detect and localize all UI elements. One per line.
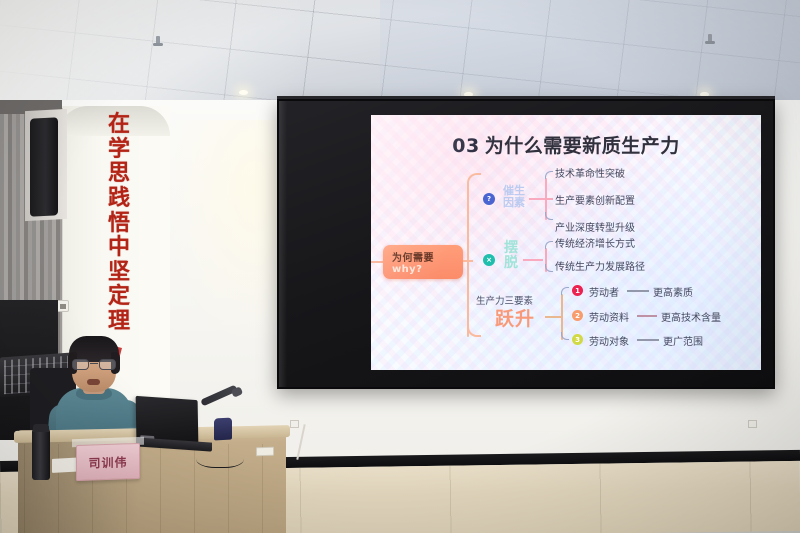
item-label: 劳动者: [589, 284, 619, 299]
calligraphy-char: 定: [108, 284, 130, 309]
item-value: 更高技术含量: [661, 309, 721, 324]
item-value: 更高素质: [653, 284, 693, 299]
placard-name-text: 司训伟: [88, 453, 127, 471]
calligraphy-char: 中: [108, 235, 130, 260]
thermos-icon: [32, 428, 50, 480]
glasses-bridge: [90, 363, 98, 364]
branch-badge-label: ?: [487, 195, 491, 203]
branch-label-1: 催生 因素: [500, 185, 528, 208]
calligraphy-char: 学: [108, 137, 130, 162]
branch-badge-cross-icon: ×: [483, 254, 495, 266]
numbered-badge-3-label: 3: [575, 336, 580, 344]
item-value: 更广范围: [663, 333, 703, 348]
item-connector: [627, 290, 649, 292]
desk-cable: [196, 446, 244, 468]
branch-3-big-label: 跃升: [495, 304, 535, 331]
leaf-node: 技术革命性突破: [555, 165, 625, 180]
display-screen-icon[interactable]: 03为什么需要新质生产力 为何需要 why? ?: [277, 99, 775, 389]
person-glasses: [71, 359, 117, 370]
wall-junction-box: [290, 420, 299, 428]
calligraphy-char: 在: [108, 112, 130, 137]
numbered-badge-1-label: 1: [575, 287, 580, 295]
slide-title-number: 03: [452, 135, 479, 157]
item-connector: [637, 315, 657, 317]
leaf-node: 生产要素创新配置: [555, 192, 635, 207]
wall-junction-box: [748, 420, 757, 428]
branch-2-stem: [523, 259, 543, 261]
calligraphy-char: 践: [108, 186, 130, 211]
item-label: 劳动资料: [589, 309, 629, 324]
leaf-node: 传统生产力发展路径: [555, 258, 645, 273]
ceiling-downlight-icon: [239, 90, 248, 95]
calligraphy-char: 坚: [108, 260, 130, 285]
ceiling-sprinkler-icon: [156, 36, 160, 45]
person-mouth: [87, 379, 100, 385]
lecture-room-photo: 在 学 思 践 悟 中 坚 定 理 03为什么需要新质生产力 为何需要 why?: [0, 0, 800, 533]
presentation-slide: 03为什么需要新质生产力 为何需要 why? ?: [371, 115, 761, 370]
item-label: 劳动对象: [589, 333, 629, 348]
branch-badge-label: ×: [486, 256, 492, 264]
branch-label-2-line1: 摆: [501, 241, 521, 256]
item-connector: [637, 339, 659, 341]
ceiling-sprinkler-icon: [708, 34, 712, 43]
branch-label-2: 摆 脱: [501, 241, 521, 270]
mindmap-trunk-cap-top: [467, 173, 481, 187]
numbered-badge-2-label: 2: [575, 312, 580, 320]
branch-2-cap-top: [545, 241, 553, 249]
loudspeaker-icon: [30, 117, 58, 216]
branch-label-2-line2: 脱: [501, 256, 521, 271]
calligraphy-char: 思: [108, 161, 130, 186]
branch-3-cap-top: [561, 287, 569, 295]
root-label-en: why?: [392, 264, 463, 275]
wall-calligraphy: 在 学 思 践 悟 中 坚 定 理: [98, 112, 140, 334]
branch-1-stem: [529, 198, 545, 200]
leaf-node: 产业深度转型升级: [555, 219, 635, 234]
microphone-base: [214, 418, 232, 441]
slide-title: 03为什么需要新质生产力: [371, 131, 761, 158]
numbered-badge-2: 2: [572, 310, 583, 321]
branch-1-leaf-line: [545, 198, 553, 200]
mindmap: 为何需要 why? ? 催生 因素: [371, 171, 761, 367]
calligraphy-char: 悟: [108, 211, 130, 236]
calligraphy-char: 理: [108, 309, 130, 334]
numbered-badge-1: 1: [572, 285, 583, 296]
glasses-lens-left: [72, 359, 89, 370]
branch-1-cap-top: [545, 171, 553, 179]
desk-label-tag: [256, 447, 274, 457]
branch-badge-question-icon: ?: [483, 193, 495, 205]
mindmap-root-node: 为何需要 why?: [383, 245, 463, 279]
speaker-name-placard: 司训伟: [76, 443, 140, 481]
slide-title-text: 为什么需要新质生产力: [485, 135, 680, 157]
branch-label-1-line1: 催生: [500, 185, 528, 197]
leaf-node: 传统经济增长方式: [555, 235, 635, 250]
numbered-badge-3: 3: [572, 334, 583, 345]
branch-3-stem: [545, 316, 561, 318]
root-label-cn: 为何需要: [392, 249, 463, 264]
thermos-cap: [33, 424, 49, 432]
mindmap-trunk-cap-bottom: [467, 323, 481, 337]
mindmap-trunk-stub: [463, 260, 473, 262]
branch-label-1-line2: 因素: [500, 197, 528, 209]
glasses-lens-right: [99, 359, 116, 370]
